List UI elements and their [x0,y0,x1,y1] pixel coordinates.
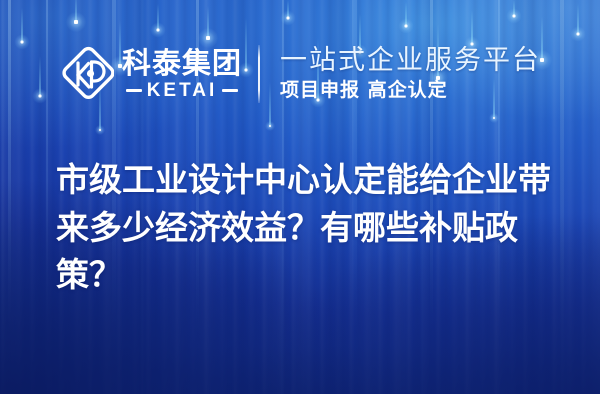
banner-image: 科泰集团 KETAI 一站式企业服务平台 项目申报 高企认定 市级工业设计中心认… [0,0,600,394]
ketai-diamond-kd-logo-icon [58,46,114,102]
slogan-block: 一站式企业服务平台 项目申报 高企认定 [280,46,541,102]
slogan-primary: 一站式企业服务平台 [280,46,541,76]
banner-title: 市级工业设计中心认定能给企业带来多少经济效益？有哪些补贴政策？ [56,156,564,299]
company-name-cn: 科泰集团 [122,48,242,78]
company-name-en-row: KETAI [122,81,242,100]
slogan-secondary: 项目申报 高企认定 [280,80,541,102]
brand-wordmark: 科泰集团 KETAI [122,48,242,99]
brand-logo[interactable]: 科泰集团 KETAI [58,46,242,102]
banner-header: 科泰集团 KETAI 一站式企业服务平台 项目申报 高企认定 [0,34,600,114]
company-name-en: KETAI [147,81,218,100]
wordmark-dash-right-icon [222,89,238,92]
wordmark-dash-left-icon [126,89,142,92]
header-divider [258,45,260,103]
bottom-white-strip [0,394,600,400]
